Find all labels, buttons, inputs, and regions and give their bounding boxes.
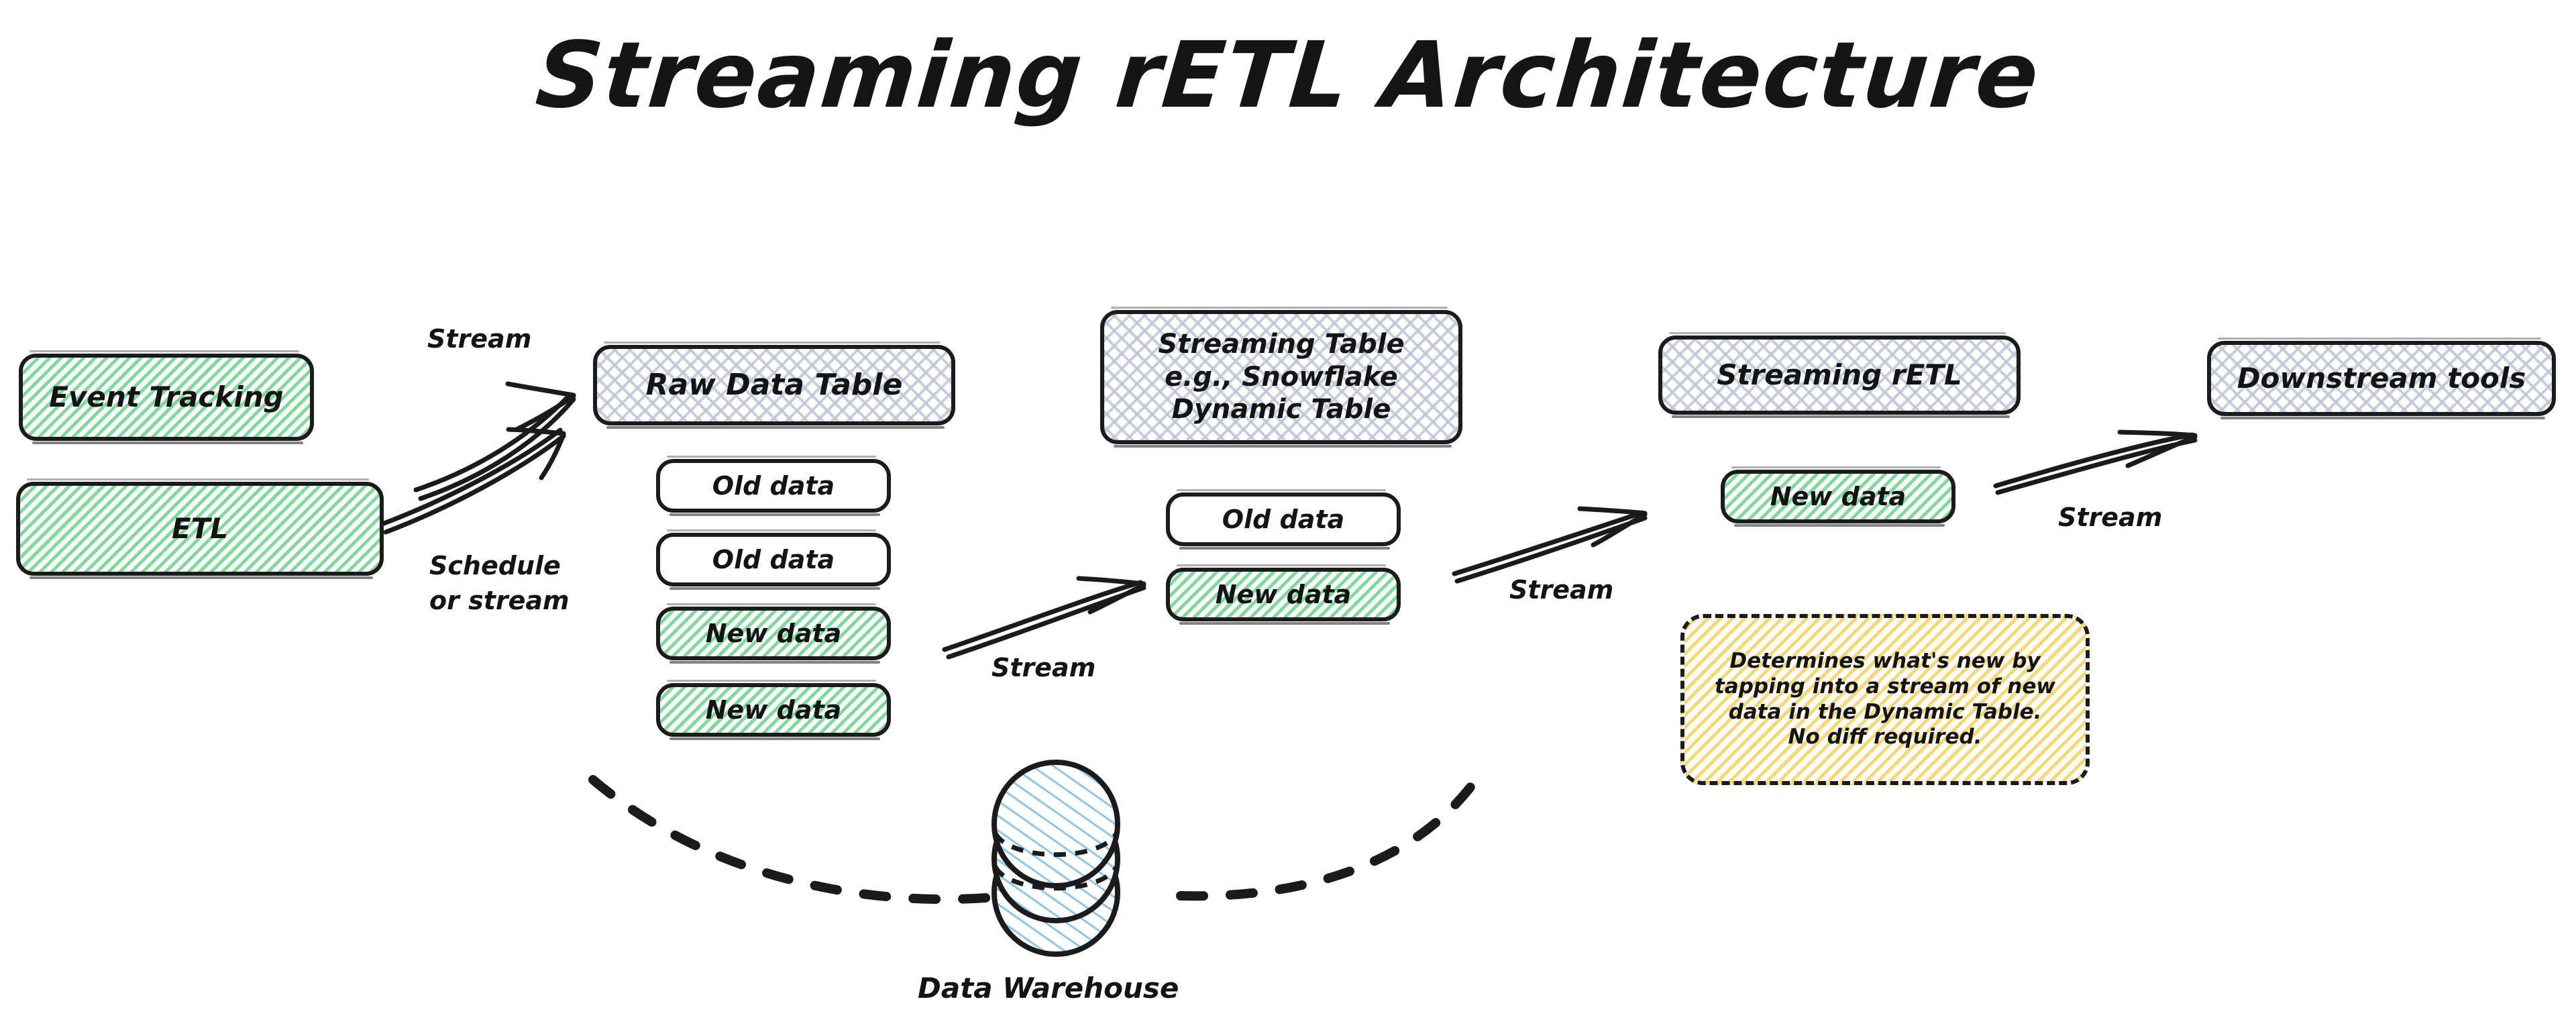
streaming-table-row-1[interactable]: New data	[1166, 568, 1401, 621]
node-streaming-table-line2: e.g., Snowflake	[1165, 361, 1398, 394]
data-warehouse-cylinder	[994, 762, 1118, 954]
raw-table-row-2[interactable]: New data	[656, 607, 891, 660]
note-line-3: data in the Dynamic Table.	[1729, 700, 2042, 725]
arrow-raw-table-to-streaming-table	[945, 578, 1144, 657]
node-event-tracking[interactable]: Event Tracking	[19, 354, 314, 441]
raw-table-row-3-label: New data	[706, 695, 842, 725]
arrow-etl-to-raw-table	[380, 429, 563, 532]
raw-table-row-0-label: Old data	[712, 470, 835, 501]
node-streaming-table-line1: Streaming Table	[1158, 328, 1404, 361]
note-line-2: tapping into a stream of new	[1715, 674, 2055, 700]
node-streaming-retl-header[interactable]: Streaming rETL	[1658, 336, 2021, 415]
arrow-retl-to-downstream-tools	[1996, 432, 2195, 493]
streaming-table-row-0-label: Old data	[1222, 504, 1344, 535]
node-etl[interactable]: ETL	[16, 482, 384, 576]
edge-label-raw-to-streaming: Stream	[991, 652, 1095, 684]
raw-table-row-3[interactable]: New data	[656, 683, 891, 737]
note-line-4: No diff required.	[1788, 725, 1982, 750]
edge-label-etl-to-raw-line1: Schedule	[429, 550, 561, 582]
node-raw-data-table-label: Raw Data Table	[646, 367, 903, 403]
node-raw-data-table-header[interactable]: Raw Data Table	[593, 345, 955, 425]
retl-row-0[interactable]: New data	[1721, 470, 1955, 523]
note-dynamic-table-stream: Determines what's new by tapping into a …	[1680, 614, 2090, 785]
node-etl-label: ETL	[172, 511, 228, 546]
streaming-table-row-1-label: New data	[1216, 579, 1352, 610]
raw-table-row-1[interactable]: Old data	[656, 533, 891, 586]
edge-label-retl-to-downstream: Stream	[2058, 502, 2162, 534]
data-warehouse-caption: Data Warehouse	[918, 972, 1179, 1005]
retl-row-0-label: New data	[1770, 481, 1907, 512]
node-streaming-table-header[interactable]: Streaming Table e.g., Snowflake Dynamic …	[1100, 310, 1462, 444]
edge-label-streaming-to-retl: Stream	[1509, 574, 1613, 607]
node-downstream-tools[interactable]: Downstream tools	[2207, 341, 2556, 416]
note-line-1: Determines what's new by	[1729, 649, 2040, 674]
arrow-streaming-table-to-retl	[1454, 509, 1645, 581]
node-event-tracking-label: Event Tracking	[49, 380, 283, 414]
node-streaming-retl-label: Streaming rETL	[1717, 358, 1962, 392]
edge-label-etl-to-raw-line2: or stream	[429, 585, 570, 617]
node-streaming-table-line3: Dynamic Table	[1172, 393, 1391, 426]
node-downstream-tools-label: Downstream tools	[2237, 361, 2526, 395]
edge-label-event-to-raw: Stream	[427, 323, 531, 356]
page-title: Streaming rETL Architecture	[0, 23, 2576, 129]
raw-table-row-0[interactable]: Old data	[656, 459, 891, 513]
streaming-table-row-0[interactable]: Old data	[1166, 493, 1401, 546]
raw-table-row-1-label: Old data	[712, 544, 835, 575]
raw-table-row-2-label: New data	[706, 618, 842, 649]
